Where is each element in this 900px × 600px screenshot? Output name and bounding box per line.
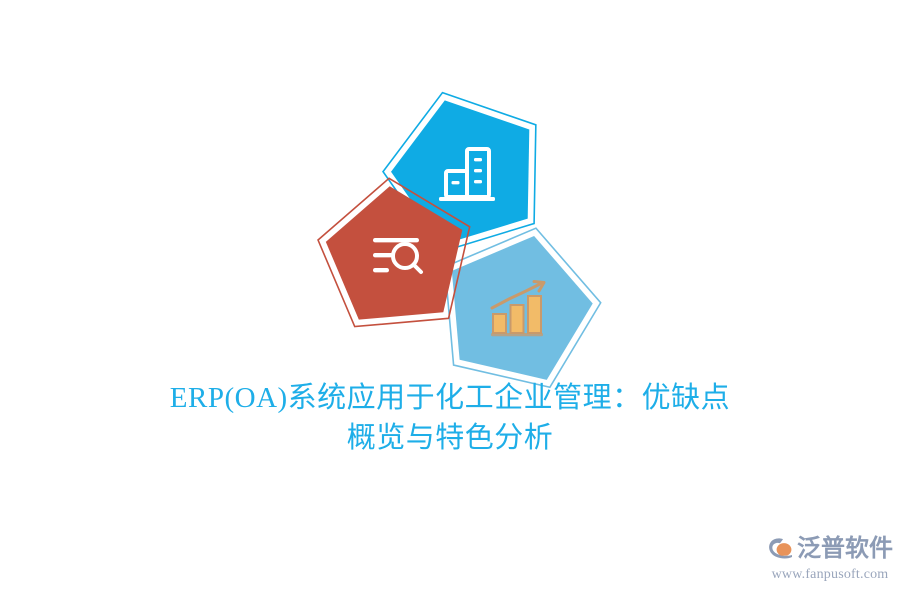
- title-line-1: ERP(OA)系统应用于化工企业管理：优缺点: [0, 378, 900, 418]
- logo-row: 泛普软件: [766, 532, 894, 566]
- watermark-logo: 泛普软件 www.fanpusoft.com: [766, 532, 894, 588]
- logo-wordmark: 泛普软件: [797, 534, 893, 564]
- page-root: ERP(OA)系统应用于化工企业管理：优缺点 概览与特色分析 泛普软件 www.…: [0, 0, 900, 600]
- title-line-2: 概览与特色分析: [0, 418, 900, 458]
- pentagon-cluster-graphic: [295, 78, 605, 378]
- fanpu-leaf-logo-icon: [766, 534, 796, 564]
- page-title: ERP(OA)系统应用于化工企业管理：优缺点 概览与特色分析: [0, 378, 900, 458]
- logo-url: www.fanpusoft.com: [766, 567, 894, 583]
